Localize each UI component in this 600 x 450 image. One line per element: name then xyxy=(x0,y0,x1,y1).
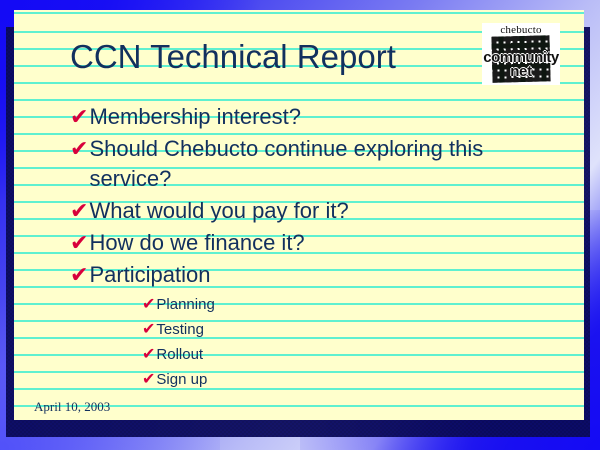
logo-text-net: net xyxy=(482,64,560,79)
list-item-label: Sign up xyxy=(156,367,570,392)
list-item: ✔ Planning xyxy=(142,292,570,317)
list-item: ✔ Rollout xyxy=(142,342,570,367)
check-mark-icon: ✔ xyxy=(70,196,88,226)
check-mark-icon: ✔ xyxy=(70,228,88,258)
list-item-label: How do we finance it? xyxy=(89,228,570,258)
list-item-label: Membership interest? xyxy=(89,102,570,132)
list-item: ✔ How do we finance it? xyxy=(70,228,570,258)
check-mark-icon: ✔ xyxy=(142,292,155,317)
check-mark-icon: ✔ xyxy=(142,342,155,367)
check-mark-icon: ✔ xyxy=(142,317,155,342)
list-item-label: What would you pay for it? xyxy=(89,196,570,226)
check-mark-icon: ✔ xyxy=(142,367,155,392)
list-item-label: Should Chebucto continue exploring this … xyxy=(89,134,570,194)
logo-text-chebucto: chebucto xyxy=(482,24,560,36)
bullet-list: ✔ Membership interest? ✔ Should Chebucto… xyxy=(70,102,570,392)
list-item-label: Testing xyxy=(156,317,570,342)
check-mark-icon: ✔ xyxy=(70,134,88,164)
list-item-label: Planning xyxy=(156,292,570,317)
list-item: ✔ Testing xyxy=(142,317,570,342)
list-item-label: Rollout xyxy=(156,342,570,367)
chebucto-community-net-logo: chebucto community net xyxy=(482,23,560,85)
check-mark-icon: ✔ xyxy=(70,102,88,132)
slide-title: CCN Technical Report xyxy=(70,37,396,77)
slide-date: April 10, 2003 xyxy=(34,399,110,415)
list-item: ✔ Sign up xyxy=(142,367,570,392)
notebook-paper-surface: CCN Technical Report chebucto community … xyxy=(14,10,584,420)
check-mark-icon: ✔ xyxy=(70,260,88,290)
presentation-slide: CCN Technical Report chebucto community … xyxy=(0,0,600,450)
list-item: ✔ What would you pay for it? xyxy=(70,196,570,226)
list-item: ✔ Membership interest? xyxy=(70,102,570,132)
list-item: ✔ Should Chebucto continue exploring thi… xyxy=(70,134,570,194)
list-item: ✔ Participation xyxy=(70,260,570,290)
list-item-label: Participation xyxy=(89,260,570,290)
